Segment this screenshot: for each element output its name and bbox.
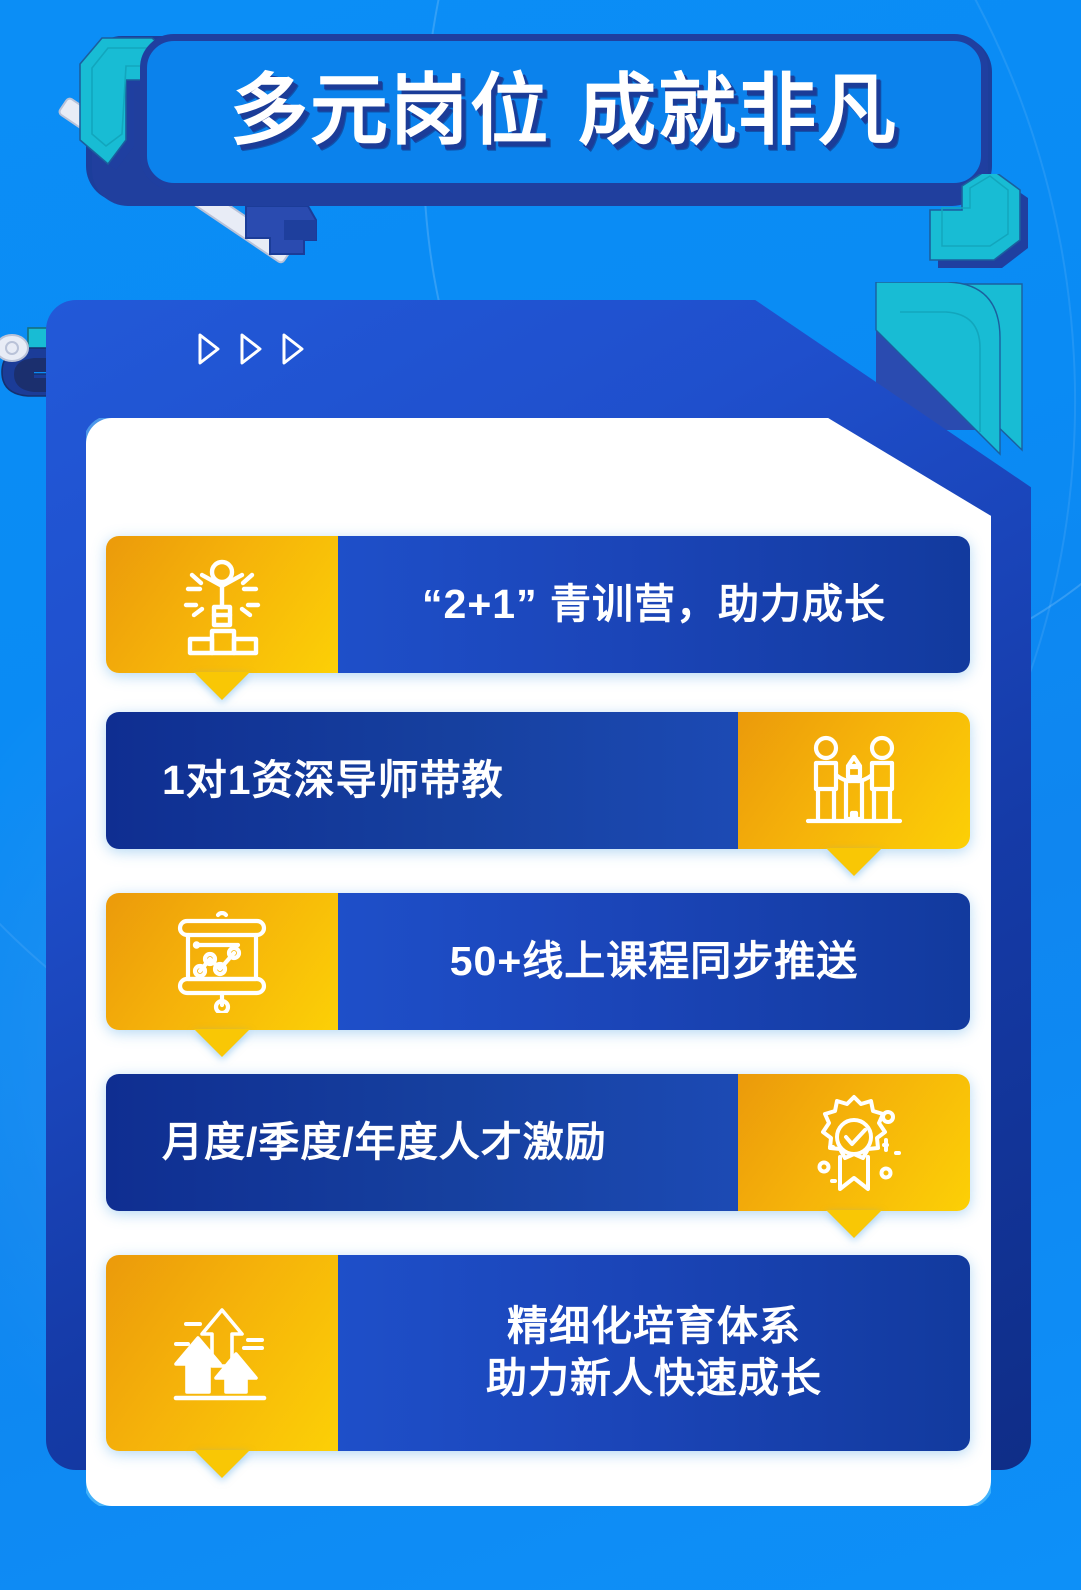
- header-banner: 多元岗位成就非凡: [78, 22, 1008, 222]
- banner-plate: 多元岗位成就非凡: [140, 34, 988, 190]
- play-arrow-icon: [196, 332, 222, 366]
- feature-row-one-on-one-mentor[interactable]: 1对1资深导师带教: [106, 712, 970, 849]
- feature-text-pane: “2+1” 青训营，助力成长: [338, 536, 970, 673]
- feature-row-talent-incentives[interactable]: 月度/季度/年度人才激励: [106, 1074, 970, 1211]
- play-arrow-icon: [238, 332, 264, 366]
- feature-label: “2+1” 青训营，助力成长: [338, 581, 970, 629]
- banner-neck-icon: [238, 206, 330, 262]
- feature-label: 50+线上课程同步推送: [338, 938, 970, 986]
- person-on-podium-icon: [106, 536, 338, 673]
- feature-text-pane: 月度/季度/年度人才激励: [106, 1074, 738, 1211]
- feature-row-online-courses[interactable]: 50+线上课程同步推送: [106, 893, 970, 1030]
- corner-bracket-right-icon: [924, 174, 1044, 286]
- two-people-mentoring-icon: [738, 712, 970, 849]
- presentation-chart-icon: [106, 893, 338, 1030]
- card-pointer-tail: [194, 672, 250, 700]
- feature-label: 1对1资深导师带教: [106, 757, 504, 805]
- card-pointer-tail: [826, 1210, 882, 1238]
- feature-text-pane: 1对1资深导师带教: [106, 712, 738, 849]
- award-ribbon-check-icon: [738, 1074, 970, 1211]
- triple-play-arrow-icon: [196, 332, 306, 366]
- card-pointer-tail: [194, 1450, 250, 1478]
- card-pointer-tail: [194, 1029, 250, 1057]
- play-arrow-icon: [280, 332, 306, 366]
- feature-text-pane: 精细化培育体系 助力新人快速成长: [338, 1255, 970, 1451]
- feature-label: 精细化培育体系 助力新人快速成长: [338, 1301, 970, 1404]
- page-title: 多元岗位成就非凡: [230, 71, 898, 149]
- feature-row-youth-training-camp[interactable]: “2+1” 青训营，助力成长: [106, 536, 970, 673]
- feature-row-refined-development[interactable]: 精细化培育体系 助力新人快速成长: [106, 1255, 970, 1451]
- growth-arrows-icon: [106, 1255, 338, 1451]
- card-pointer-tail: [826, 848, 882, 876]
- feature-label: 月度/季度/年度人才激励: [106, 1119, 607, 1167]
- feature-text-pane: 50+线上课程同步推送: [338, 893, 970, 1030]
